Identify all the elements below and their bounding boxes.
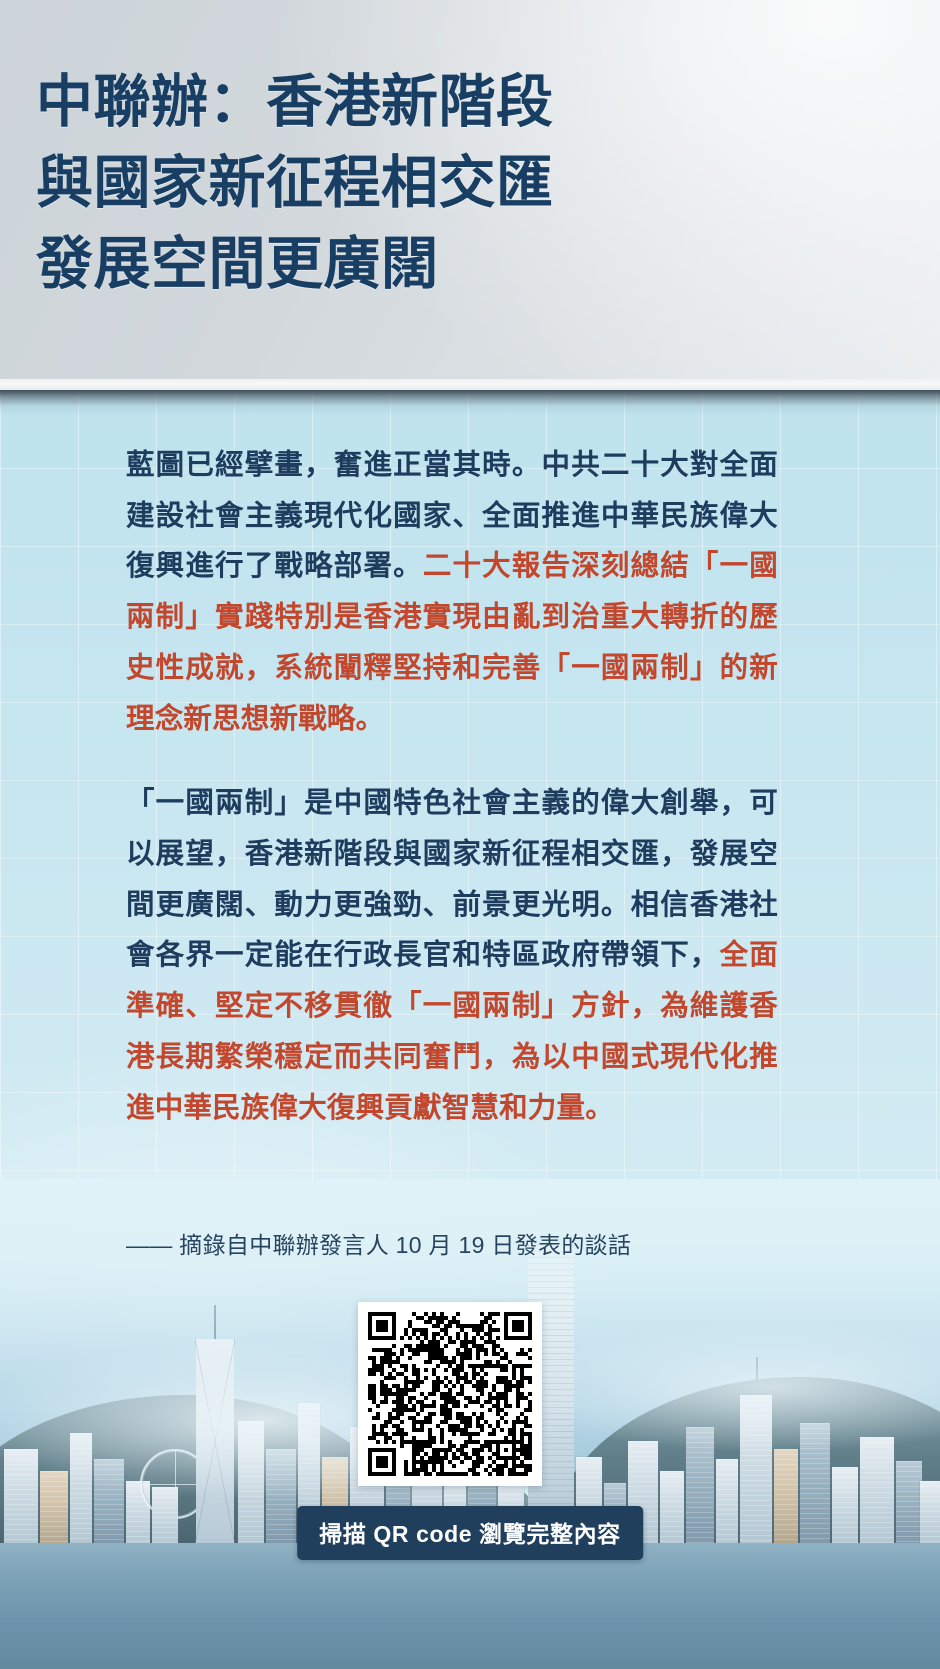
header-shadow <box>0 390 940 416</box>
bank-of-china-tower <box>196 1339 234 1545</box>
building <box>740 1395 772 1545</box>
building <box>238 1421 264 1545</box>
building <box>832 1467 858 1545</box>
building <box>800 1423 830 1545</box>
building <box>896 1461 922 1545</box>
qr-code[interactable] <box>358 1302 542 1486</box>
header-divider <box>0 379 940 390</box>
page-title: 中聯辦：香港新階段 與國家新征程相交匯 發展空間更廣闊 <box>36 62 736 305</box>
building <box>686 1427 714 1545</box>
building <box>4 1449 38 1545</box>
building <box>40 1471 68 1545</box>
building <box>920 1481 940 1545</box>
building <box>70 1433 92 1545</box>
qr-caption-badge: 掃描 QR code 瀏覽完整內容 <box>297 1506 643 1560</box>
paragraph-2: 「一國兩制」是中國特色社會主義的偉大創舉，可以展望，香港新階段與國家新征程相交匯… <box>126 778 778 1133</box>
antenna-mast <box>214 1305 216 1339</box>
building <box>266 1449 296 1545</box>
building <box>774 1449 798 1545</box>
building <box>94 1459 124 1545</box>
building <box>152 1487 178 1545</box>
paragraph-2-plain: 「一國兩制」是中國特色社會主義的偉大創舉，可以展望，香港新階段與國家新征程相交匯… <box>126 787 778 971</box>
building <box>716 1459 738 1545</box>
article-body: 藍圖已經擘畫，奮進正當其時。中共二十大對全面建設社會主義現代化國家、全面推進中華… <box>126 440 778 1167</box>
building <box>660 1471 684 1545</box>
antenna-mast <box>756 1357 758 1395</box>
page-title-line-1: 中聯辦：香港新階段 <box>36 62 736 143</box>
page-title-line-3: 發展空間更廣闊 <box>36 224 736 305</box>
harbour-water <box>0 1543 940 1669</box>
qr-code-image <box>368 1312 532 1476</box>
page-title-line-2: 與國家新征程相交匯 <box>36 143 736 224</box>
paragraph-1: 藍圖已經擘畫，奮進正當其時。中共二十大對全面建設社會主義現代化國家、全面推進中華… <box>126 440 778 744</box>
header-banner: 中聯辦：香港新階段 與國家新征程相交匯 發展空間更廣闊 <box>0 0 940 382</box>
source-attribution: —— 摘錄自中聯辦發言人 10 月 19 日發表的談話 <box>126 1226 826 1260</box>
building <box>860 1437 894 1545</box>
poster: 中聯辦：香港新階段 與國家新征程相交匯 發展空間更廣闊 <box>0 0 940 1669</box>
